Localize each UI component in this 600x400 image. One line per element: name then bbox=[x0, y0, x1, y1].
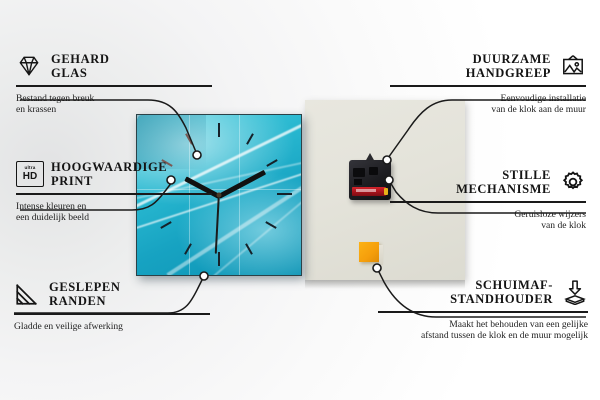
callout-header: SCHUIMAF- STANDHOUDER bbox=[378, 278, 588, 306]
callout-stille-mechanisme: STILLE MECHANISME Geruisloze wijzers van… bbox=[390, 168, 586, 232]
beveled-edges-icon bbox=[14, 281, 40, 307]
battery-terminal bbox=[384, 188, 388, 195]
movement-button bbox=[354, 179, 362, 185]
callout-description-line2: en krassen bbox=[16, 104, 212, 116]
callout-title: HOOGWAARDIGE PRINT bbox=[51, 160, 167, 188]
clock-art-grid bbox=[239, 115, 240, 275]
clock-hands-hub bbox=[217, 193, 222, 198]
clock-hour-mark bbox=[218, 252, 220, 266]
callout-description-line2: van de klok bbox=[390, 220, 586, 232]
callout-gehard-glas: GEHARD GLAS Bestand tegen breuk en krass… bbox=[16, 52, 212, 116]
callout-header: GESLEPEN RANDEN bbox=[14, 280, 210, 308]
callout-description-line1: Bestand tegen breuk bbox=[16, 93, 212, 105]
foam-spacer bbox=[359, 242, 379, 262]
clock-hour-mark bbox=[246, 133, 254, 144]
callout-header: GEHARD GLAS bbox=[16, 52, 212, 80]
picture-frame-icon bbox=[560, 53, 586, 79]
callout-description-line2: van de klok aan de muur bbox=[390, 104, 586, 116]
callout-description-line2: een duidelijk beeld bbox=[16, 212, 212, 224]
clock-hour-mark bbox=[266, 159, 277, 167]
callout-header: DUURZAME HANDGREEP bbox=[390, 52, 586, 80]
callout-hoogwaardige-print: ultra HD HOOGWAARDIGE PRINT Intense kleu… bbox=[16, 160, 212, 224]
gear-icon bbox=[560, 169, 586, 195]
callout-title: GESLEPEN RANDEN bbox=[49, 280, 121, 308]
clock-hour-mark bbox=[218, 123, 220, 137]
callout-geslepen-randen: GESLEPEN RANDEN Gladde en veilige afwerk… bbox=[14, 280, 210, 332]
ultra-hd-icon: ultra HD bbox=[16, 161, 42, 187]
callout-description-line1: Gladde en veilige afwerking bbox=[14, 321, 210, 333]
callout-title: SCHUIMAF- STANDHOUDER bbox=[450, 278, 553, 306]
callout-divider bbox=[16, 193, 212, 195]
callout-description-line1: Eenvoudige installatie bbox=[390, 93, 586, 105]
callout-title: GEHARD GLAS bbox=[51, 52, 109, 80]
callout-title: STILLE MECHANISME bbox=[456, 168, 551, 196]
callout-schuimafstandhouder: SCHUIMAF- STANDHOUDER Maakt het behouden… bbox=[378, 278, 588, 342]
callout-description-line1: Geruisloze wijzers bbox=[390, 209, 586, 221]
infographic-stage: GEHARD GLAS Bestand tegen breuk en krass… bbox=[0, 0, 600, 400]
clock-movement-mechanism bbox=[349, 160, 391, 200]
spacer-press-icon bbox=[562, 279, 588, 305]
callout-divider bbox=[390, 201, 586, 203]
callout-divider bbox=[378, 311, 588, 313]
battery bbox=[352, 187, 386, 196]
callout-divider bbox=[16, 85, 212, 87]
callout-title: DUURZAME HANDGREEP bbox=[466, 52, 551, 80]
diamond-icon bbox=[16, 53, 42, 79]
callout-description-line2: afstand tussen de klok en de muur mogeli… bbox=[378, 330, 588, 342]
callout-header: ultra HD HOOGWAARDIGE PRINT bbox=[16, 160, 212, 188]
clock-hour-mark bbox=[184, 243, 192, 254]
callout-header: STILLE MECHANISME bbox=[390, 168, 586, 196]
callout-divider bbox=[390, 85, 586, 87]
clock-hour-mark bbox=[277, 193, 292, 195]
callout-divider bbox=[14, 313, 210, 315]
callout-duurzame-handgreep: DUURZAME HANDGREEP Eenvoudige installati… bbox=[390, 52, 586, 116]
movement-button bbox=[369, 167, 378, 175]
callout-description-line1: Intense kleuren en bbox=[16, 201, 212, 213]
callout-description-line1: Maakt het behouden van een gelijke bbox=[378, 319, 588, 331]
movement-button bbox=[353, 168, 365, 177]
battery-label bbox=[356, 189, 376, 192]
